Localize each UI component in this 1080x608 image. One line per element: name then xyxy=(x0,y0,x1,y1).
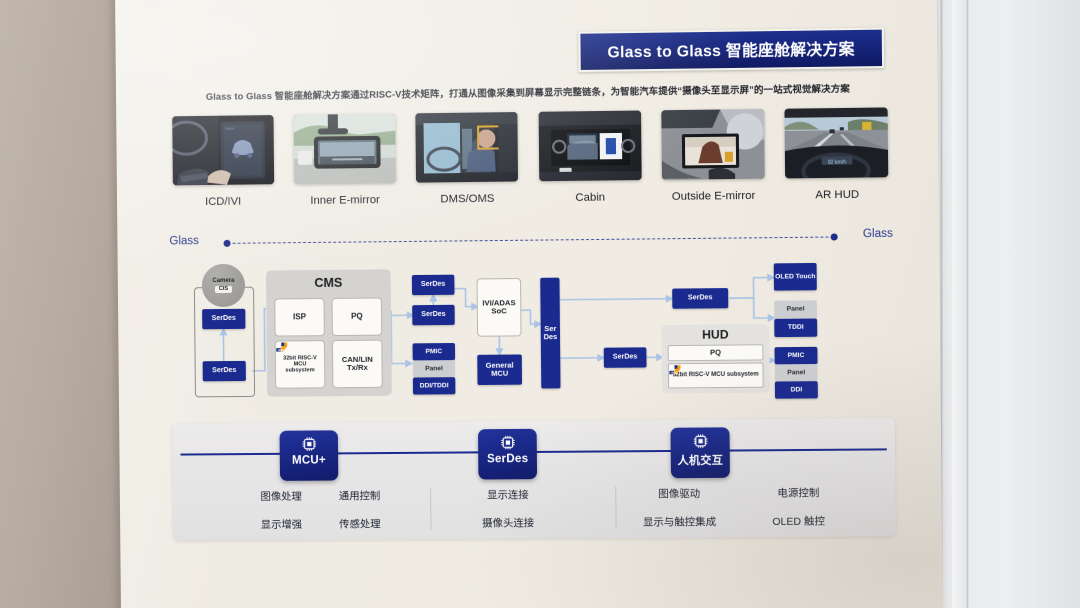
display-left-pmic: PMIC xyxy=(413,343,456,360)
hud-pq-block: PQ xyxy=(668,344,764,361)
capability-panel: MCU+ 图像处理 显示增强 通用控制 传感处理 xyxy=(172,418,896,541)
capability-tag: 通用控制 xyxy=(318,487,401,503)
cms-isp-block: ISP xyxy=(274,298,325,337)
block-diagram: Camera CIS SerDes SerDes CMS ISP PQ RISC… xyxy=(176,254,876,413)
serdes-vertical-bar: Ser Des xyxy=(540,278,560,389)
rail-dot-left xyxy=(224,240,231,247)
serdes-camera-top: SerDes xyxy=(202,309,245,329)
photo-cell-ar-hud: 82 km/h AR HUD xyxy=(781,107,892,214)
hud-group-title: HUD xyxy=(661,327,769,342)
panel-tddi-panel: Panel xyxy=(774,300,817,319)
photo-caption: Inner E-mirror xyxy=(310,194,380,207)
capability-tag: 显示与触控集成 xyxy=(616,513,742,529)
poster-board: Glass to Glass 智能座舱解决方案 Glass to Glass 智… xyxy=(115,0,943,608)
capability-name: SerDes xyxy=(487,453,528,465)
rearview-mirror-display-photo xyxy=(293,114,395,184)
serdes-mid-bottom: SerDes xyxy=(412,305,455,325)
general-mcu-block: General MCU xyxy=(477,354,522,385)
riscv-logo-icon: RISC xyxy=(276,341,289,352)
chip-icon xyxy=(300,435,317,452)
wall-panel-edge xyxy=(952,0,966,608)
serdes-right-bottom: SerDes xyxy=(604,347,647,368)
photo-caption: DMS/OMS xyxy=(440,193,494,206)
capability-tag: 图像驱动 xyxy=(616,485,742,501)
capability-tag: OLED 触控 xyxy=(745,512,853,528)
glass-label-right: Glass xyxy=(863,228,893,240)
wall-left xyxy=(0,0,128,608)
chip-icon xyxy=(691,433,708,450)
capability-chip-hmi[interactable]: 人机交互 xyxy=(670,427,729,478)
car-tablet-touchscreen-photo xyxy=(172,115,274,185)
photo-cell-icd-ivi: ICD/IVI xyxy=(168,115,277,221)
capability-name: 人机交互 xyxy=(677,452,723,468)
hud-mcu-label: 32bit RISC-V MCU subsystem xyxy=(673,372,759,380)
oled-touch-block: OLED Touch xyxy=(774,263,817,291)
wall-seam xyxy=(966,0,969,608)
driver-monitoring-photo xyxy=(416,112,519,183)
capability-tag: 显示增强 xyxy=(243,516,319,532)
cms-canlin-block: CAN/LIN Tx/Rx xyxy=(332,340,383,389)
svg-text:RISC: RISC xyxy=(278,349,284,352)
photo-caption: ICD/IVI xyxy=(205,196,241,208)
hud-riscv-mcu-block: RISC 32bit RISC-V MCU subsystem xyxy=(668,362,764,388)
camera-cis-node: Camera CIS xyxy=(202,264,246,307)
rail-dashed-line xyxy=(233,237,829,244)
photo-cell-cabin: Cabin xyxy=(535,110,645,217)
subtitle-text: Glass to Glass 智能座舱解决方案通过RISC-V技术矩阵，打通从图… xyxy=(168,80,889,103)
capability-tag: 传感处理 xyxy=(319,515,402,531)
capability-tag: 显示连接 xyxy=(454,486,561,502)
capability-tag: 电源控制 xyxy=(744,484,852,500)
side-mirror-display-photo xyxy=(661,109,764,180)
panel-ddi-panel: Panel xyxy=(775,364,818,382)
title-banner: Glass to Glass 智能座舱解决方案 xyxy=(578,28,884,72)
riscv-logo-icon: RISC xyxy=(669,364,682,375)
glass-label-left: Glass xyxy=(169,235,199,247)
cabin-head-unit-photo xyxy=(538,111,641,182)
capability-tags-mcu-col2: 通用控制 传感处理 xyxy=(318,487,401,531)
banner-title: Glass to Glass 智能座舱解决方案 xyxy=(607,37,854,62)
display-left-panel: Panel xyxy=(413,360,456,377)
photo-cell-outside-e-mirror: Outside E-mirror xyxy=(658,109,769,216)
camera-label: Camera xyxy=(212,278,234,284)
application-photo-strip: ICD/IVI xyxy=(168,107,892,221)
glass-to-glass-rail: Glass Glass xyxy=(169,225,893,259)
photo-caption: AR HUD xyxy=(815,189,859,202)
photo-caption: Cabin xyxy=(575,192,605,204)
capability-tags-hmi-col2: 电源控制 OLED 触控 xyxy=(744,484,853,528)
cis-label: CIS xyxy=(215,286,232,293)
panel-tddi-tddi: TDDI xyxy=(774,319,817,338)
capability-tag: 摄像头连接 xyxy=(455,514,562,530)
display-left-ddi-tddi: DDI/TDDI xyxy=(413,377,456,394)
rail-dot-right xyxy=(831,233,838,240)
capability-chip-mcu-plus[interactable]: MCU+ xyxy=(280,430,339,481)
scene: Glass to Glass 智能座舱解决方案 Glass to Glass 智… xyxy=(0,0,1080,608)
panel-ddi-pmic: PMIC xyxy=(775,347,818,365)
svg-text:RISC: RISC xyxy=(671,372,677,375)
serdes-camera-bottom: SerDes xyxy=(203,361,246,381)
capability-name: MCU+ xyxy=(292,454,326,466)
capability-chip-serdes[interactable]: SerDes xyxy=(478,429,537,480)
serdes-mid-top: SerDes xyxy=(412,275,455,296)
ar-hud-windshield-photo: 82 km/h xyxy=(785,107,889,178)
wall-right xyxy=(920,0,1080,608)
photo-cell-dms-oms: DMS/OMS xyxy=(412,112,522,219)
panel-ddi-ddi: DDI xyxy=(775,381,818,399)
cms-pq-block: PQ xyxy=(332,297,383,336)
chip-icon xyxy=(499,434,516,451)
capability-tags-hmi-col1: 图像驱动 显示与触控集成 xyxy=(616,485,742,529)
photo-cell-inner-e-mirror: Inner E-mirror xyxy=(290,114,400,221)
cms-group-title: CMS xyxy=(266,275,391,290)
serdes-right-top: SerDes xyxy=(672,288,728,309)
photo-caption: Outside E-mirror xyxy=(672,190,756,203)
capability-tags-mcu-col1: 图像处理 显示增强 xyxy=(243,488,320,532)
cms-riscv-mcu-block: RISC 32bit RISC-V MCU subsystem xyxy=(275,340,326,389)
cms-mcu-label: 32bit RISC-V MCU subsystem xyxy=(279,355,321,374)
capability-tags-serdes: 显示连接 摄像头连接 xyxy=(454,486,562,530)
capability-tag: 图像处理 xyxy=(243,488,319,504)
capability-divider xyxy=(430,488,431,530)
svg-text:82 km/h: 82 km/h xyxy=(828,160,846,166)
ivi-adas-soc-block: IVI/ADAS SoC xyxy=(477,278,522,337)
